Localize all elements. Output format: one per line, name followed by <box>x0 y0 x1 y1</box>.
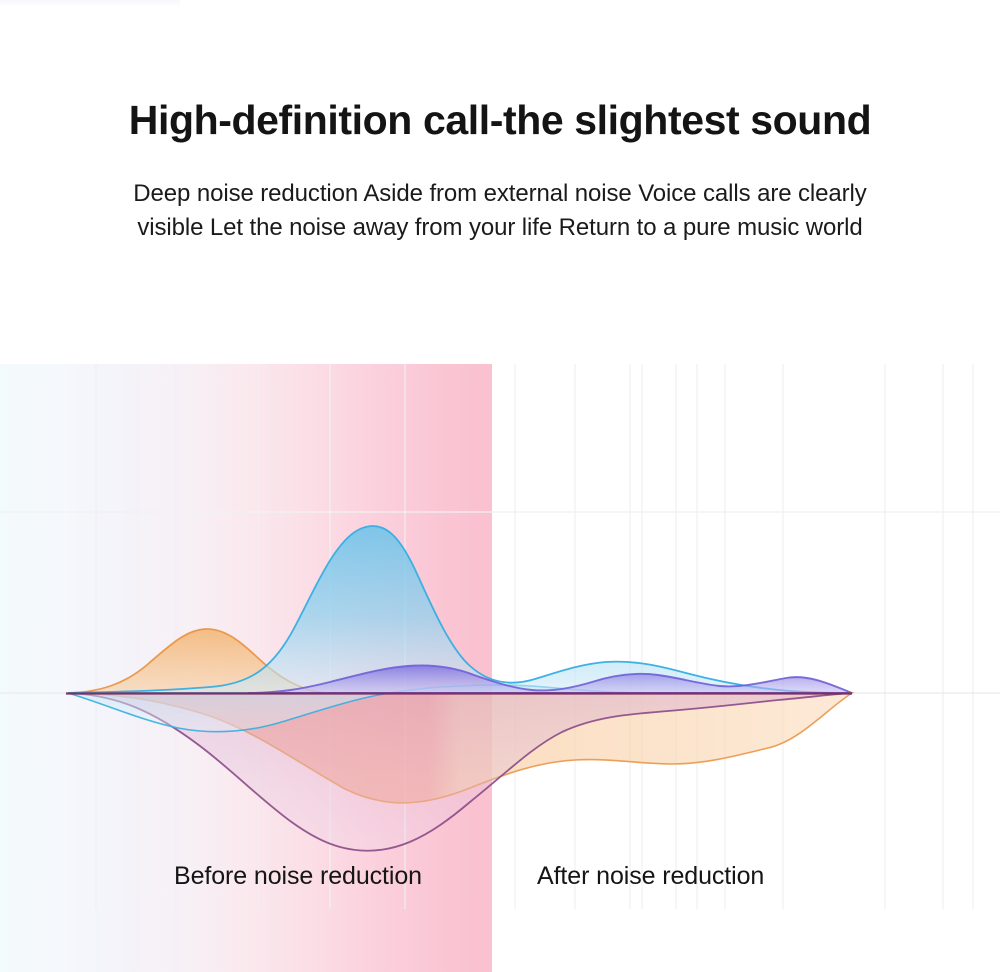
page-subtitle: Deep noise reduction Aside from external… <box>100 177 900 245</box>
page-title: High-definition call-the slightest sound <box>129 100 871 141</box>
caption-before-noise-reduction: Before noise reduction <box>174 862 422 891</box>
caption-row: Before noise reduction After noise reduc… <box>0 862 1000 906</box>
header-block: High-definition call-the slightest sound… <box>0 0 1000 360</box>
promo-page: High-definition call-the slightest sound… <box>0 0 1000 972</box>
caption-after-noise-reduction: After noise reduction <box>537 862 764 891</box>
